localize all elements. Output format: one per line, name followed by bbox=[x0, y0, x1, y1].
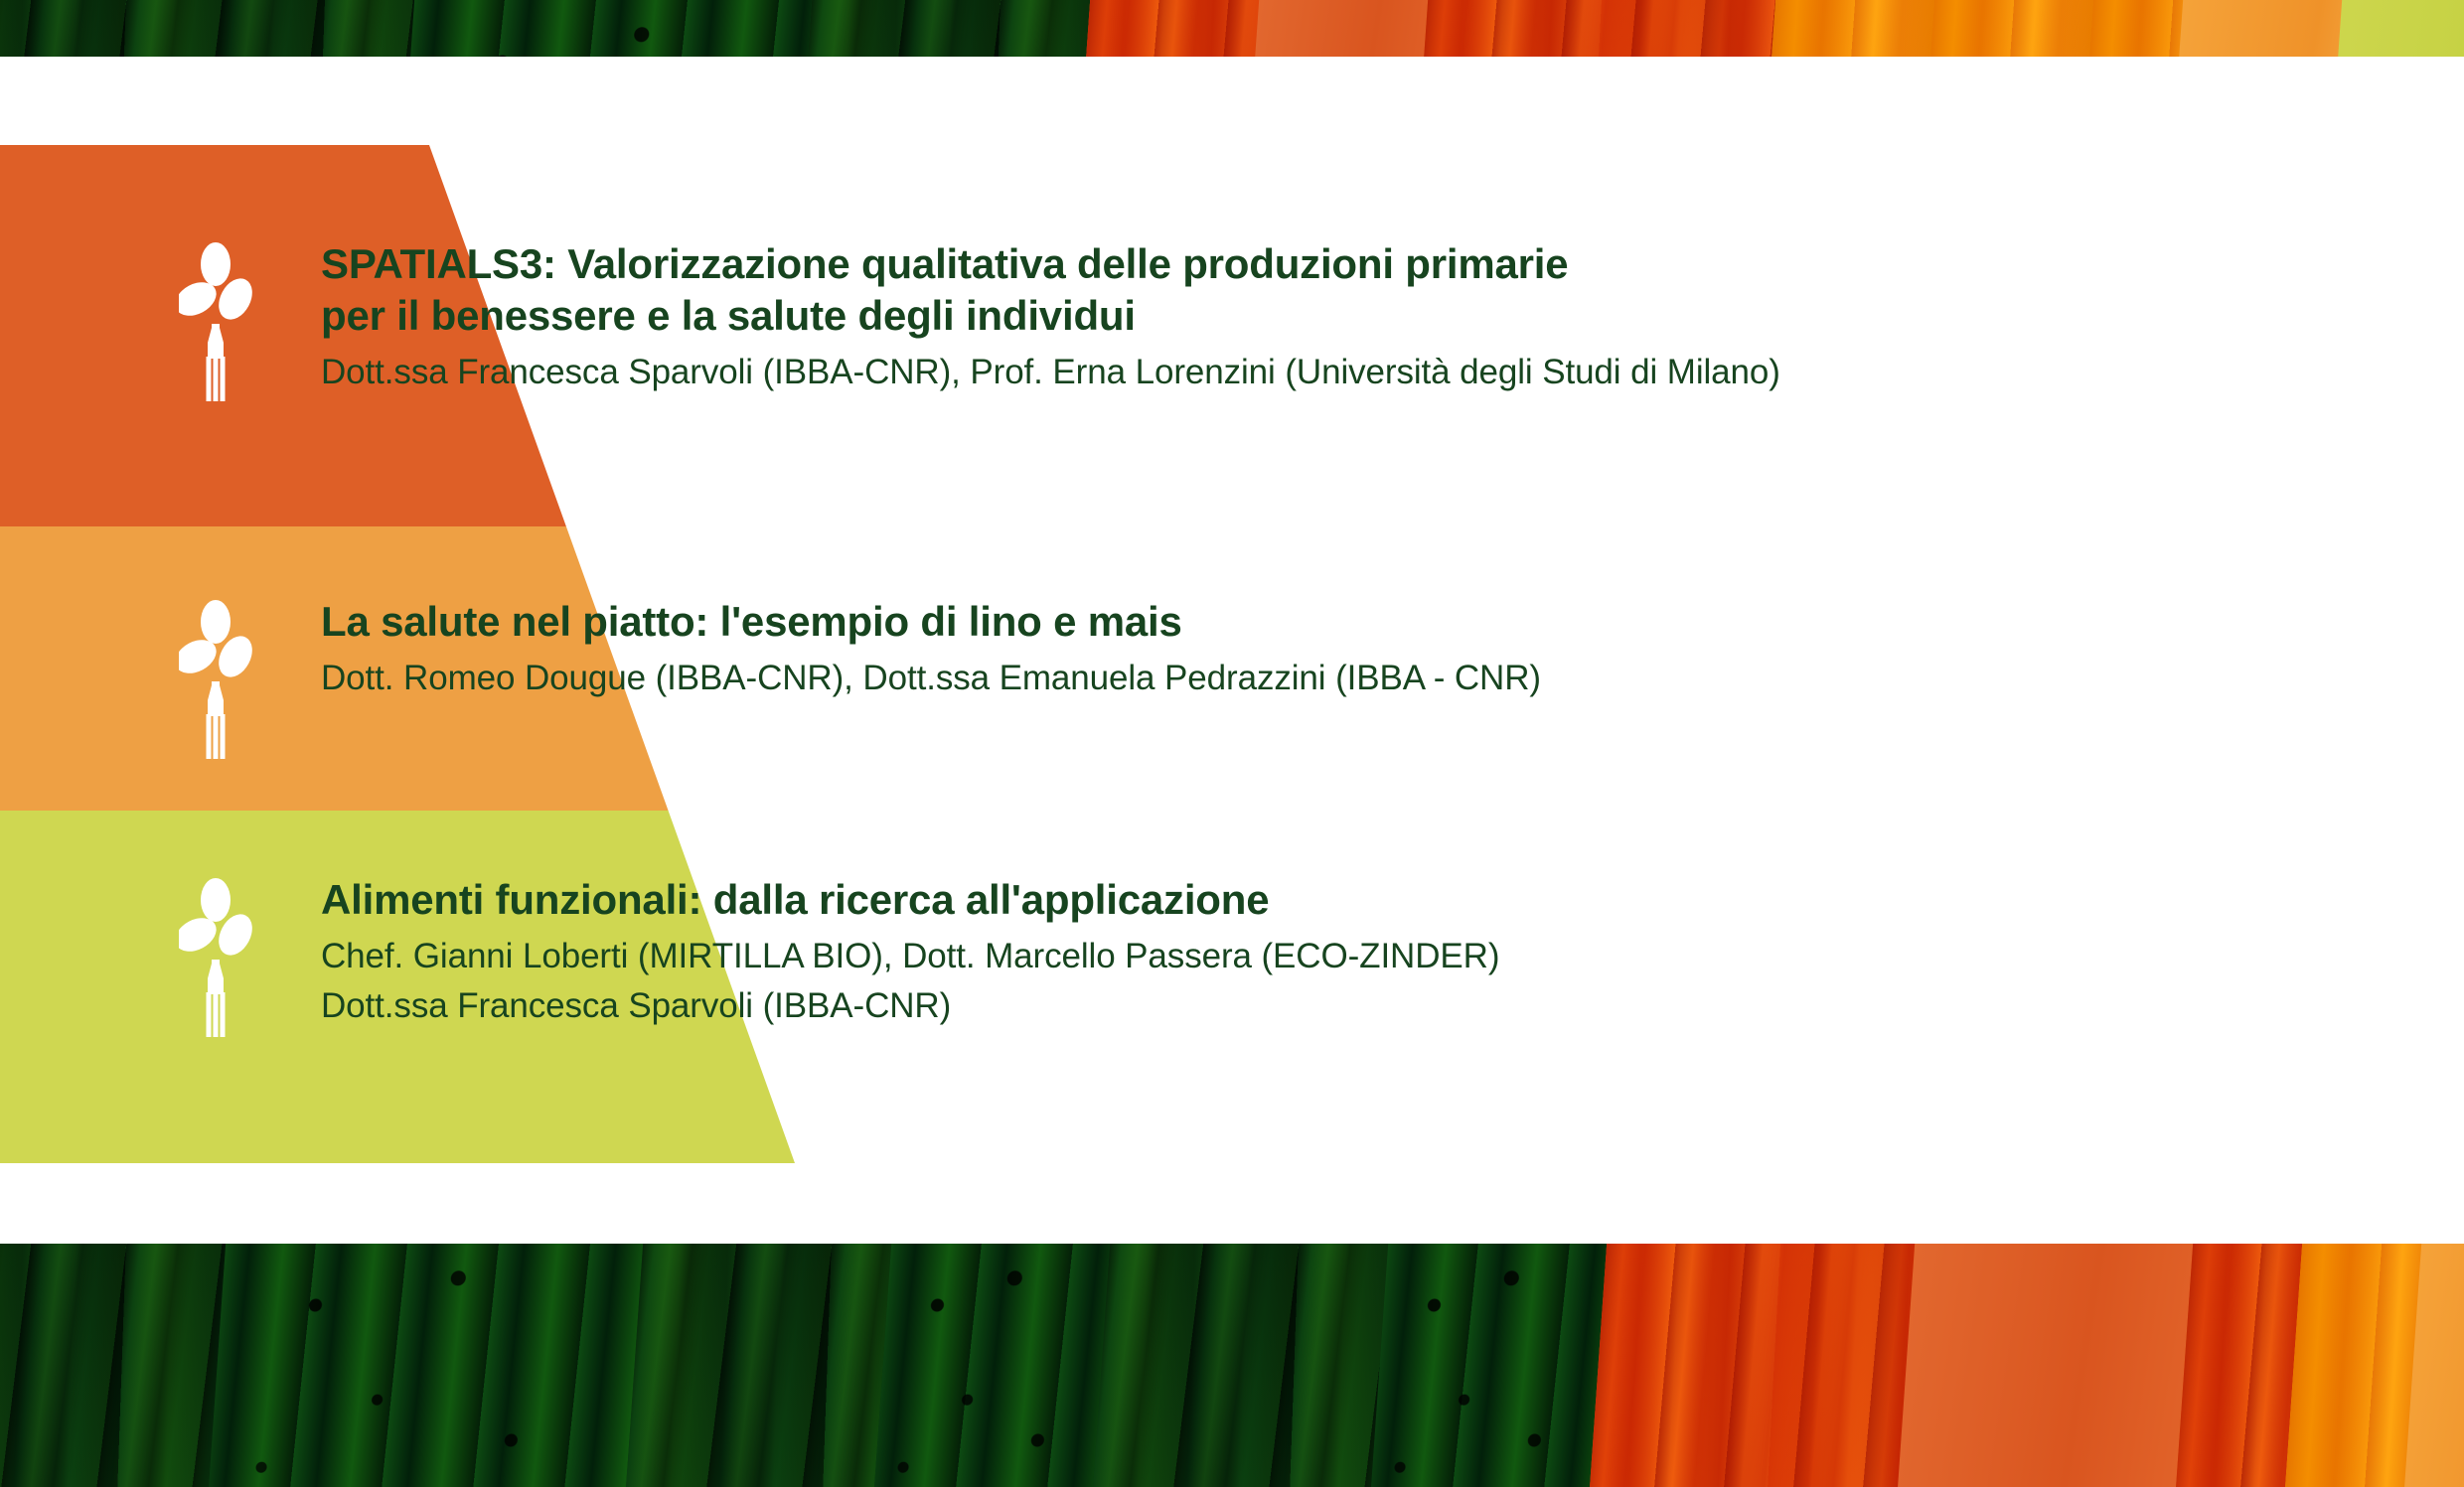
banner-strip-red-pepper bbox=[1069, 0, 1272, 57]
session-2-speaker-line: Dott. Romeo Dougue (IBBA-CNR), Dott.ssa … bbox=[321, 654, 1541, 703]
banner-strip-amber-pepper bbox=[2162, 0, 2355, 57]
banner-strip-green-speckle bbox=[1367, 1244, 1619, 1487]
banner-strip-lime bbox=[2321, 0, 2464, 57]
session-2-text-cell: La salute nel piatto: l'esempio di lino … bbox=[298, 596, 1541, 703]
banner-strip-green bbox=[1089, 1244, 1401, 1487]
banner-strip-orange-pepper bbox=[1238, 0, 1441, 57]
banner-strip-orange-pepper bbox=[1894, 1244, 2206, 1487]
banner-strip-green-speckle bbox=[393, 0, 835, 57]
banner-strip-yellow-pepper bbox=[1755, 0, 2196, 57]
banner-strip-green-speckle bbox=[870, 1244, 1123, 1487]
session-1-speakers: Dott.ssa Francesca Sparvoli (IBBA-CNR), … bbox=[321, 348, 1780, 397]
fork-leaf-icon bbox=[179, 242, 252, 406]
banner-strip-green bbox=[0, 0, 437, 57]
fork-leaf-icon bbox=[179, 600, 252, 764]
session-row-1: SPATIALS3: Valorizzazione qualitativa de… bbox=[0, 238, 2464, 406]
session-row-2: La salute nel piatto: l'esempio di lino … bbox=[0, 596, 2464, 764]
banner-strip-red-pepper bbox=[1407, 0, 1788, 57]
session-3-icon-cell bbox=[179, 874, 298, 1042]
session-3-speaker-line: Chef. Gianni Loberti (MIRTILLA BIO), Dot… bbox=[321, 932, 1499, 981]
session-1-speaker-line: Dott.ssa Francesca Sparvoli (IBBA-CNR), … bbox=[321, 348, 1780, 397]
fork-leaf-icon bbox=[179, 878, 252, 1042]
banner-strip-green-speckle bbox=[205, 1244, 656, 1487]
session-1-icon-cell bbox=[179, 238, 298, 406]
session-row-3: Alimenti funzionali: dalla ricerca all'a… bbox=[0, 874, 2464, 1042]
banner-strip-red-pepper bbox=[1586, 1244, 1927, 1487]
session-1-text-cell: SPATIALS3: Valorizzazione qualitativa de… bbox=[298, 238, 1780, 397]
session-3-text-cell: Alimenti funzionali: dalla ricerca all'a… bbox=[298, 874, 1499, 1030]
session-3-title: Alimenti funzionali: dalla ricerca all'a… bbox=[321, 874, 1499, 926]
session-2-title: La salute nel piatto: l'esempio di lino … bbox=[321, 596, 1541, 648]
bottom-decorative-banner bbox=[0, 1244, 2464, 1487]
top-decorative-banner bbox=[0, 0, 2464, 57]
banner-strip-green bbox=[0, 1244, 238, 1487]
session-1-title: SPATIALS3: Valorizzazione qualitativa de… bbox=[321, 238, 1780, 342]
session-2-icon-cell bbox=[179, 596, 298, 764]
session-2-speakers: Dott. Romeo Dougue (IBBA-CNR), Dott.ssa … bbox=[321, 654, 1541, 703]
banner-strip-green bbox=[622, 1244, 904, 1487]
session-3-speaker-line: Dott.ssa Francesca Sparvoli (IBBA-CNR) bbox=[321, 981, 1499, 1031]
session-3-speakers: Chef. Gianni Loberti (MIRTILLA BIO), Dot… bbox=[321, 932, 1499, 1030]
banner-strip-green bbox=[791, 0, 1113, 57]
